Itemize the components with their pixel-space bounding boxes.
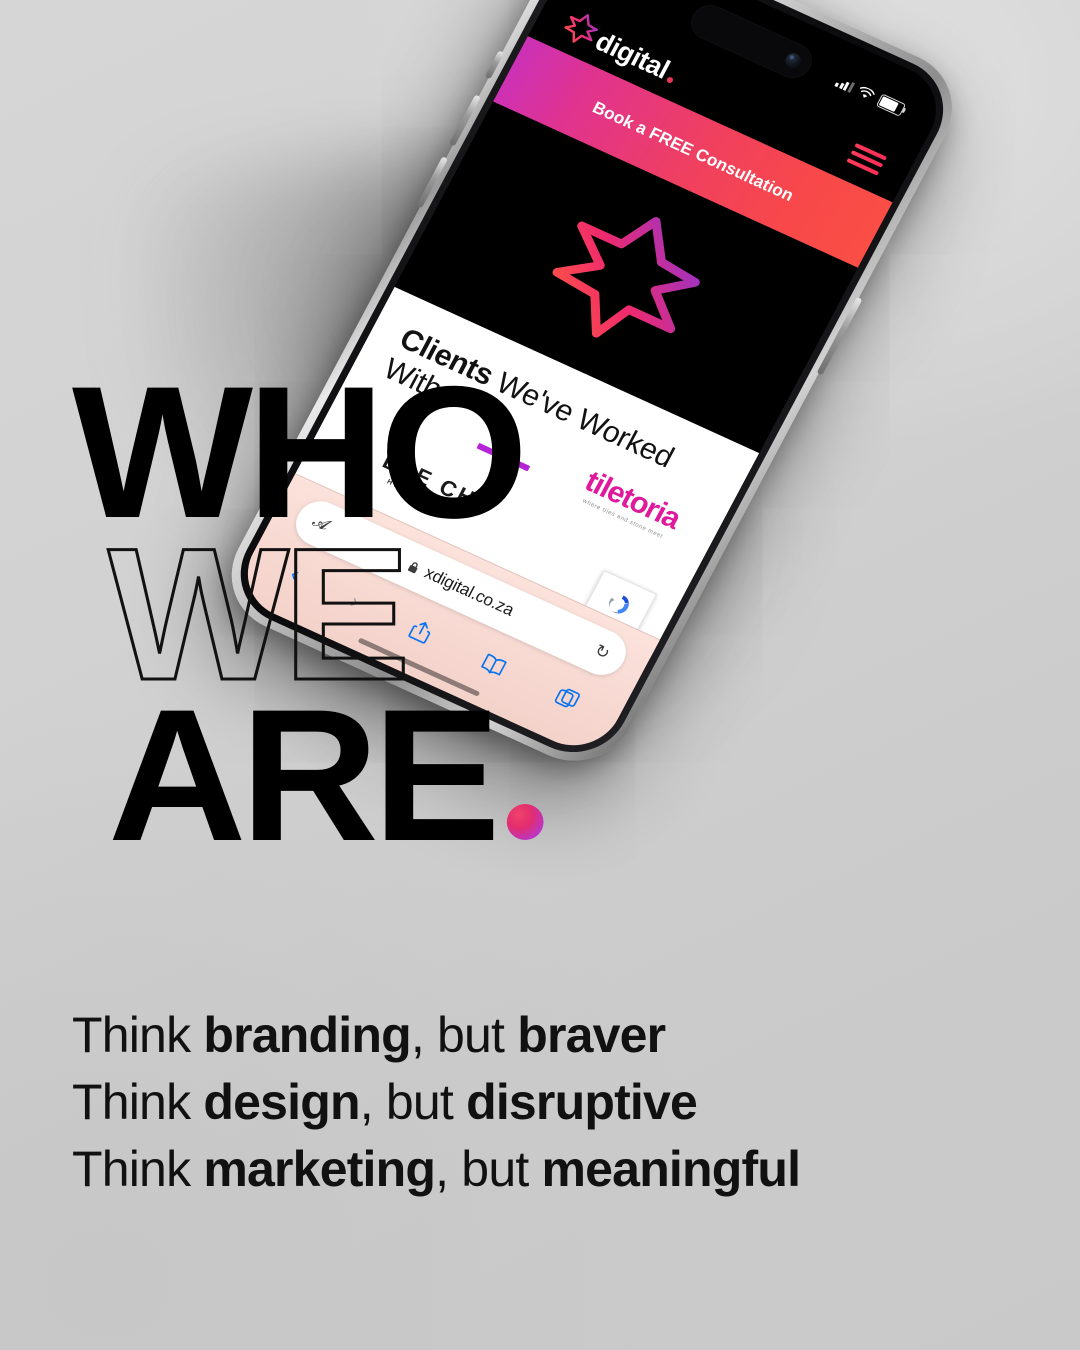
headline-accent-dot: [507, 804, 544, 840]
brand-word: digital: [591, 28, 674, 84]
tagline-3-bold-2: meaningful: [542, 1141, 801, 1197]
tagline-1-prefix: Think: [72, 1007, 203, 1063]
reload-icon[interactable]: ↻: [591, 641, 613, 665]
tagline-3-bold-1: marketing: [203, 1141, 435, 1197]
headline-block: WHO WE ARE: [72, 372, 535, 857]
tagline-line-3: Think marketing, but meaningful: [72, 1136, 800, 1203]
tagline-1-bold-1: branding: [203, 1007, 410, 1063]
tagline-1-bold-2: braver: [517, 1007, 665, 1063]
tagline-2-bold-2: disruptive: [466, 1074, 697, 1130]
headline-line-are: ARE: [108, 695, 543, 857]
x-logo-icon: [530, 186, 723, 368]
tagline-2-middle: , but: [360, 1074, 466, 1130]
tagline-line-1: Think branding, but braver: [72, 1002, 800, 1069]
tagline-3-prefix: Think: [72, 1141, 203, 1197]
front-camera-icon: [783, 51, 804, 70]
wifi-icon: [855, 85, 876, 103]
tagline-2-bold-1: design: [203, 1074, 359, 1130]
tabs-icon[interactable]: [552, 684, 582, 712]
tagline-3-middle: , but: [435, 1141, 541, 1197]
tagline-2-prefix: Think: [72, 1074, 203, 1130]
tagline-block: Think branding, but braver Think design,…: [72, 1002, 800, 1203]
cellular-signal-icon: [835, 76, 855, 93]
tagline-line-2: Think design, but disruptive: [72, 1069, 800, 1136]
brand-dot: [665, 76, 673, 84]
tagline-1-middle: , but: [411, 1007, 517, 1063]
battery-icon: [876, 94, 906, 117]
headline-are-text: ARE: [108, 670, 495, 880]
hamburger-menu-icon[interactable]: [847, 143, 888, 176]
